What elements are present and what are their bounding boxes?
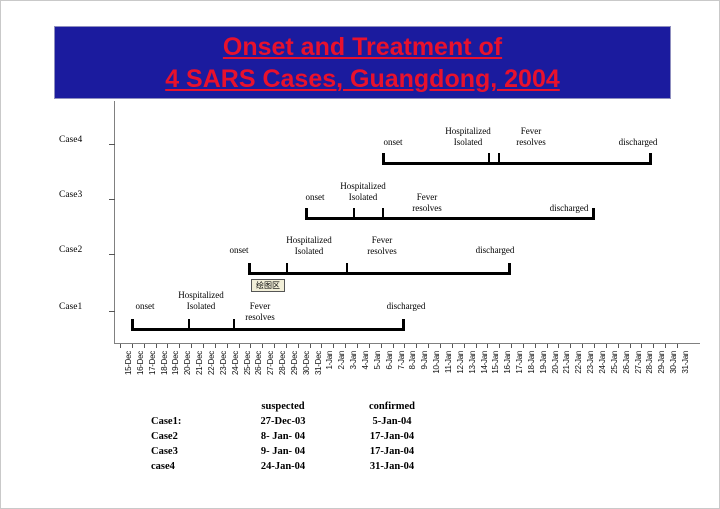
bracket-baseline bbox=[382, 162, 649, 165]
x-axis-tick bbox=[677, 344, 678, 348]
x-axis-tick bbox=[250, 344, 251, 348]
x-axis-tick-label: 18-Jan bbox=[527, 351, 536, 374]
case-bracket bbox=[1, 319, 720, 333]
bracket-mid-tick bbox=[382, 208, 384, 218]
x-axis-tick bbox=[582, 344, 583, 348]
x-axis-tick bbox=[191, 344, 192, 348]
bracket-end-cap bbox=[382, 153, 385, 165]
event-label-line: Hospitalized bbox=[286, 235, 332, 246]
event-label: discharged bbox=[387, 301, 426, 312]
x-axis-tick-label: 9-Jan bbox=[420, 351, 429, 370]
x-axis-tick bbox=[665, 344, 666, 348]
event-label: HospitalizedIsolated bbox=[340, 181, 386, 202]
case-bracket bbox=[1, 153, 720, 167]
x-axis-tick-label: 24-Dec bbox=[231, 351, 240, 375]
case-bracket bbox=[1, 208, 720, 222]
x-axis-tick-label: 15-Dec bbox=[124, 351, 133, 375]
x-axis-tick bbox=[547, 344, 548, 348]
bracket-mid-tick bbox=[488, 153, 490, 163]
case-bracket bbox=[1, 263, 720, 277]
x-axis-tick bbox=[653, 344, 654, 348]
x-axis-tick bbox=[464, 344, 465, 348]
x-axis-tick-label: 28-Jan bbox=[645, 351, 654, 374]
title-line-1: Onset and Treatment of bbox=[223, 31, 502, 63]
event-label: Feverresolves bbox=[367, 235, 397, 256]
slide-canvas: Onset and Treatment of 4 SARS Cases, Gua… bbox=[0, 0, 720, 509]
bracket-mid-tick bbox=[286, 263, 288, 273]
title-banner: Onset and Treatment of 4 SARS Cases, Gua… bbox=[54, 26, 671, 99]
x-axis-tick bbox=[120, 344, 121, 348]
x-axis-tick-label: 16-Jan bbox=[503, 351, 512, 374]
x-axis-tick-label: 20-Dec bbox=[183, 351, 192, 375]
x-axis-tick-label: 8-Jan bbox=[408, 351, 417, 370]
x-axis-tick bbox=[333, 344, 334, 348]
plot-area-tooltip: 绘图区 bbox=[251, 279, 285, 292]
x-axis-tick bbox=[535, 344, 536, 348]
event-label-line: Fever bbox=[516, 126, 546, 137]
x-axis-tick-label: 22-Dec bbox=[207, 351, 216, 375]
x-axis-tick bbox=[357, 344, 358, 348]
x-axis-tick-label: 23-Jan bbox=[586, 351, 595, 374]
x-axis-tick-label: 17-Jan bbox=[515, 351, 524, 374]
event-label-line: Isolated bbox=[286, 246, 332, 257]
table-row: case424-Jan-0431-Jan-04 bbox=[151, 459, 447, 474]
bracket-baseline bbox=[305, 217, 592, 220]
x-axis-tick bbox=[369, 344, 370, 348]
table-header-suspected: suspected bbox=[229, 399, 337, 414]
x-axis-tick-label: 2-Jan bbox=[337, 351, 346, 370]
x-axis-tick bbox=[511, 344, 512, 348]
event-label: onset bbox=[306, 192, 325, 203]
x-axis-tick bbox=[345, 344, 346, 348]
x-axis-tick bbox=[428, 344, 429, 348]
event-label-line: onset bbox=[230, 245, 249, 256]
table-cell-case: Case2 bbox=[151, 429, 229, 444]
x-axis-tick-label: 14-Jan bbox=[480, 351, 489, 374]
x-axis-tick bbox=[310, 344, 311, 348]
x-axis-tick-label: 21-Jan bbox=[562, 351, 571, 374]
table-header-confirmed: confirmed bbox=[337, 399, 447, 414]
x-axis-tick bbox=[215, 344, 216, 348]
event-label: discharged bbox=[619, 137, 658, 148]
x-axis-tick-label: 11-Jan bbox=[444, 351, 453, 373]
case-track-case4: onsetHospitalizedIsolatedFeverresolvesdi… bbox=[1, 123, 720, 169]
x-axis-tick bbox=[262, 344, 263, 348]
case-track-case3: onsetHospitalizedIsolatedFeverresolvesdi… bbox=[1, 178, 720, 224]
event-label-line: onset bbox=[306, 192, 325, 203]
x-axis-tick-label: 6-Jan bbox=[385, 351, 394, 370]
table-cell-suspected: 9- Jan- 04 bbox=[229, 444, 337, 459]
x-axis-tick bbox=[570, 344, 571, 348]
title-line-2: 4 SARS Cases, Guangdong, 2004 bbox=[165, 63, 560, 95]
event-label-line: Hospitalized bbox=[340, 181, 386, 192]
bracket-mid-tick bbox=[353, 208, 355, 218]
x-axis-tick bbox=[381, 344, 382, 348]
x-axis-tick-label: 22-Jan bbox=[574, 351, 583, 374]
event-label-line: Fever bbox=[245, 301, 275, 312]
bracket-end-cap bbox=[649, 153, 652, 165]
x-axis-tick-label: 30-Dec bbox=[302, 351, 311, 375]
x-axis-tick bbox=[523, 344, 524, 348]
x-axis-tick bbox=[286, 344, 287, 348]
x-axis-tick bbox=[239, 344, 240, 348]
x-axis-tick-label: 3-Jan bbox=[349, 351, 358, 370]
x-axis-tick bbox=[476, 344, 477, 348]
x-axis-tick-label: 31-Jan bbox=[681, 351, 690, 374]
table-cell-suspected: 8- Jan- 04 bbox=[229, 429, 337, 444]
event-label-line: onset bbox=[384, 137, 403, 148]
x-axis-tick bbox=[144, 344, 145, 348]
timeline-chart: Case4Case3Case2Case1 15-Dec16-Dec17-Dec1… bbox=[1, 99, 720, 399]
x-axis-tick bbox=[156, 344, 157, 348]
x-axis-tick bbox=[594, 344, 595, 348]
x-axis-tick bbox=[227, 344, 228, 348]
x-axis-tick bbox=[404, 344, 405, 348]
table-cell-case: Case1: bbox=[151, 414, 229, 429]
x-axis-tick bbox=[440, 344, 441, 348]
x-axis-tick bbox=[558, 344, 559, 348]
bracket-mid-tick bbox=[498, 153, 500, 163]
event-label: onset bbox=[384, 137, 403, 148]
x-axis-tick-label: 5-Jan bbox=[373, 351, 382, 370]
table-row: Case1:27-Dec-035-Jan-04 bbox=[151, 414, 447, 429]
event-label: discharged bbox=[476, 245, 515, 256]
x-axis-tick bbox=[132, 344, 133, 348]
event-label-line: Isolated bbox=[340, 192, 386, 203]
event-label: HospitalizedIsolated bbox=[178, 290, 224, 311]
event-label-line: Fever bbox=[367, 235, 397, 246]
event-label-line: Hospitalized bbox=[445, 126, 491, 137]
case-date-table: suspected confirmed Case1:27-Dec-035-Jan… bbox=[151, 399, 447, 474]
x-axis-tick bbox=[641, 344, 642, 348]
table-cell-case: Case3 bbox=[151, 444, 229, 459]
case-track-case1: onsetHospitalizedIsolatedFeverresolvesdi… bbox=[1, 289, 720, 335]
x-axis-tick-label: 28-Dec bbox=[278, 351, 287, 375]
bracket-end-cap bbox=[508, 263, 511, 275]
table-cell-suspected: 27-Dec-03 bbox=[229, 414, 337, 429]
event-label-line: onset bbox=[136, 301, 155, 312]
x-axis-tick-label: 1-Jan bbox=[325, 351, 334, 370]
x-axis-tick-label: 29-Jan bbox=[657, 351, 666, 374]
event-label-line: resolves bbox=[367, 246, 397, 257]
event-label: HospitalizedIsolated bbox=[286, 235, 332, 256]
case-track-case2: onsetHospitalizedIsolatedFeverresolvesdi… bbox=[1, 233, 720, 279]
bracket-end-cap bbox=[248, 263, 251, 275]
table-body: Case1:27-Dec-035-Jan-04Case28- Jan- 0417… bbox=[151, 414, 447, 474]
x-axis-tick bbox=[203, 344, 204, 348]
bracket-end-cap bbox=[402, 319, 405, 331]
x-axis-tick bbox=[298, 344, 299, 348]
x-axis-tick-label: 26-Jan bbox=[622, 351, 631, 374]
x-axis-tick-label: 12-Jan bbox=[456, 351, 465, 374]
bracket-mid-tick bbox=[188, 319, 190, 329]
x-axis-tick-label: 4-Jan bbox=[361, 351, 370, 370]
event-label-line: discharged bbox=[387, 301, 426, 312]
x-axis-tick bbox=[167, 344, 168, 348]
x-axis-tick bbox=[452, 344, 453, 348]
event-label-line: Fever bbox=[412, 192, 442, 203]
x-axis-tick bbox=[606, 344, 607, 348]
bracket-baseline bbox=[131, 328, 402, 331]
event-label-line: Isolated bbox=[445, 137, 491, 148]
x-axis-tick-label: 19-Jan bbox=[539, 351, 548, 374]
event-label-line: discharged bbox=[476, 245, 515, 256]
x-axis-tick-label: 18-Dec bbox=[160, 351, 169, 375]
x-axis-tick-label: 19-Dec bbox=[171, 351, 180, 375]
x-axis-tick-label: 24-Jan bbox=[598, 351, 607, 374]
x-axis-tick-label: 16-Dec bbox=[136, 351, 145, 375]
x-axis-tick-label: 10-Jan bbox=[432, 351, 441, 374]
x-axis-tick bbox=[274, 344, 275, 348]
x-axis-tick-label: 13-Jan bbox=[468, 351, 477, 374]
x-axis-tick-label: 17-Dec bbox=[148, 351, 157, 375]
event-label-line: discharged bbox=[619, 137, 658, 148]
table-cell-confirmed: 5-Jan-04 bbox=[337, 414, 447, 429]
table-header-case bbox=[151, 399, 229, 414]
table-cell-confirmed: 31-Jan-04 bbox=[337, 459, 447, 474]
event-label: onset bbox=[136, 301, 155, 312]
x-axis-tick-label: 27-Dec bbox=[266, 351, 275, 375]
table: suspected confirmed Case1:27-Dec-035-Jan… bbox=[151, 399, 447, 474]
x-axis-tick-label: 25-Dec bbox=[243, 351, 252, 375]
x-axis-tick-label: 26-Dec bbox=[254, 351, 263, 375]
event-label-line: Isolated bbox=[178, 301, 224, 312]
event-label: onset bbox=[230, 245, 249, 256]
x-axis-tick-label: 30-Jan bbox=[669, 351, 678, 374]
event-label: HospitalizedIsolated bbox=[445, 126, 491, 147]
x-axis-tick-label: 23-Dec bbox=[219, 351, 228, 375]
event-label-line: resolves bbox=[516, 137, 546, 148]
x-axis-tick-label: 29-Dec bbox=[290, 351, 299, 375]
x-axis-tick-label: 21-Dec bbox=[195, 351, 204, 375]
bracket-end-cap bbox=[305, 208, 308, 220]
table-cell-confirmed: 17-Jan-04 bbox=[337, 444, 447, 459]
bracket-mid-tick bbox=[346, 263, 348, 273]
x-axis-tick bbox=[179, 344, 180, 348]
x-axis-tick-label: 7-Jan bbox=[397, 351, 406, 370]
bracket-mid-tick bbox=[233, 319, 235, 329]
x-axis-tick bbox=[393, 344, 394, 348]
table-cell-suspected: 24-Jan-04 bbox=[229, 459, 337, 474]
event-label: Feverresolves bbox=[516, 126, 546, 147]
table-cell-confirmed: 17-Jan-04 bbox=[337, 429, 447, 444]
table-header-row: suspected confirmed bbox=[151, 399, 447, 414]
table-row: Case28- Jan- 0417-Jan-04 bbox=[151, 429, 447, 444]
x-axis-tick-label: 31-Dec bbox=[314, 351, 323, 375]
event-label-line: Hospitalized bbox=[178, 290, 224, 301]
table-row: Case39- Jan- 0417-Jan-04 bbox=[151, 444, 447, 459]
x-axis-tick bbox=[487, 344, 488, 348]
x-axis-tick bbox=[321, 344, 322, 348]
x-axis-tick-label: 20-Jan bbox=[551, 351, 560, 374]
x-axis-tick bbox=[630, 344, 631, 348]
bracket-end-cap bbox=[131, 319, 134, 331]
x-axis-tick bbox=[416, 344, 417, 348]
x-axis-tick-label: 25-Jan bbox=[610, 351, 619, 374]
bracket-end-cap bbox=[592, 208, 595, 220]
table-cell-case: case4 bbox=[151, 459, 229, 474]
x-axis-line bbox=[114, 343, 700, 344]
x-axis-tick bbox=[499, 344, 500, 348]
x-axis-tick-label: 27-Jan bbox=[634, 351, 643, 374]
x-axis-tick-label: 15-Jan bbox=[491, 351, 500, 374]
x-axis-tick bbox=[618, 344, 619, 348]
